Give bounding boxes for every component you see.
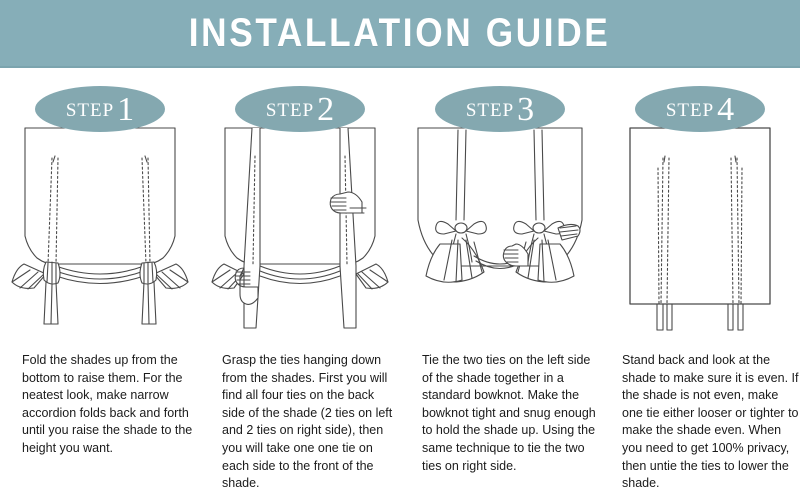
step-caption-2: Grasp the ties hanging down from the sha… [222,352,394,493]
step-badge-label: STEP [466,101,514,120]
step-badge-ellipse: STEP 1 [35,86,165,132]
step-panel-3: STEP 3 [400,68,600,495]
step-badge-ellipse: STEP 4 [635,86,765,132]
step-badge-3: STEP 3 [400,86,600,132]
illustration-shade-raised-with-hanging-ties [0,116,200,348]
step-badge-label: STEP [266,101,314,120]
step-badge-number: 1 [117,93,134,127]
illustration-flat-shade-lowered [600,116,800,348]
step-badge-number: 2 [317,93,334,127]
step-caption-1: Fold the shades up from the bottom to ra… [22,352,194,458]
step-caption-4: Stand back and look at the shade to make… [622,352,800,493]
step-badge-1: STEP 1 [0,86,200,132]
steps-container: STEP 1 [0,68,800,495]
step-panel-4: STEP 4 [600,68,800,495]
step-badge-ellipse: STEP 3 [435,86,565,132]
step-caption-3: Tie the two ties on the left side of the… [422,352,598,475]
step-badge-ellipse: STEP 2 [235,86,365,132]
step-panel-2: STEP 2 [200,68,400,495]
step-badge-4: STEP 4 [600,86,800,132]
step-badge-label: STEP [66,101,114,120]
illustration-hands-grasping-ties [200,116,400,348]
step-badge-2: STEP 2 [200,86,400,132]
step-panel-1: STEP 1 [0,68,200,495]
step-badge-number: 3 [517,93,534,127]
illustration-tying-bowknots [400,116,600,348]
step-badge-label: STEP [666,101,714,120]
header-banner: INSTALLATION GUIDE [0,0,800,68]
page-title: INSTALLATION GUIDE [189,11,611,56]
step-badge-number: 4 [717,93,734,127]
